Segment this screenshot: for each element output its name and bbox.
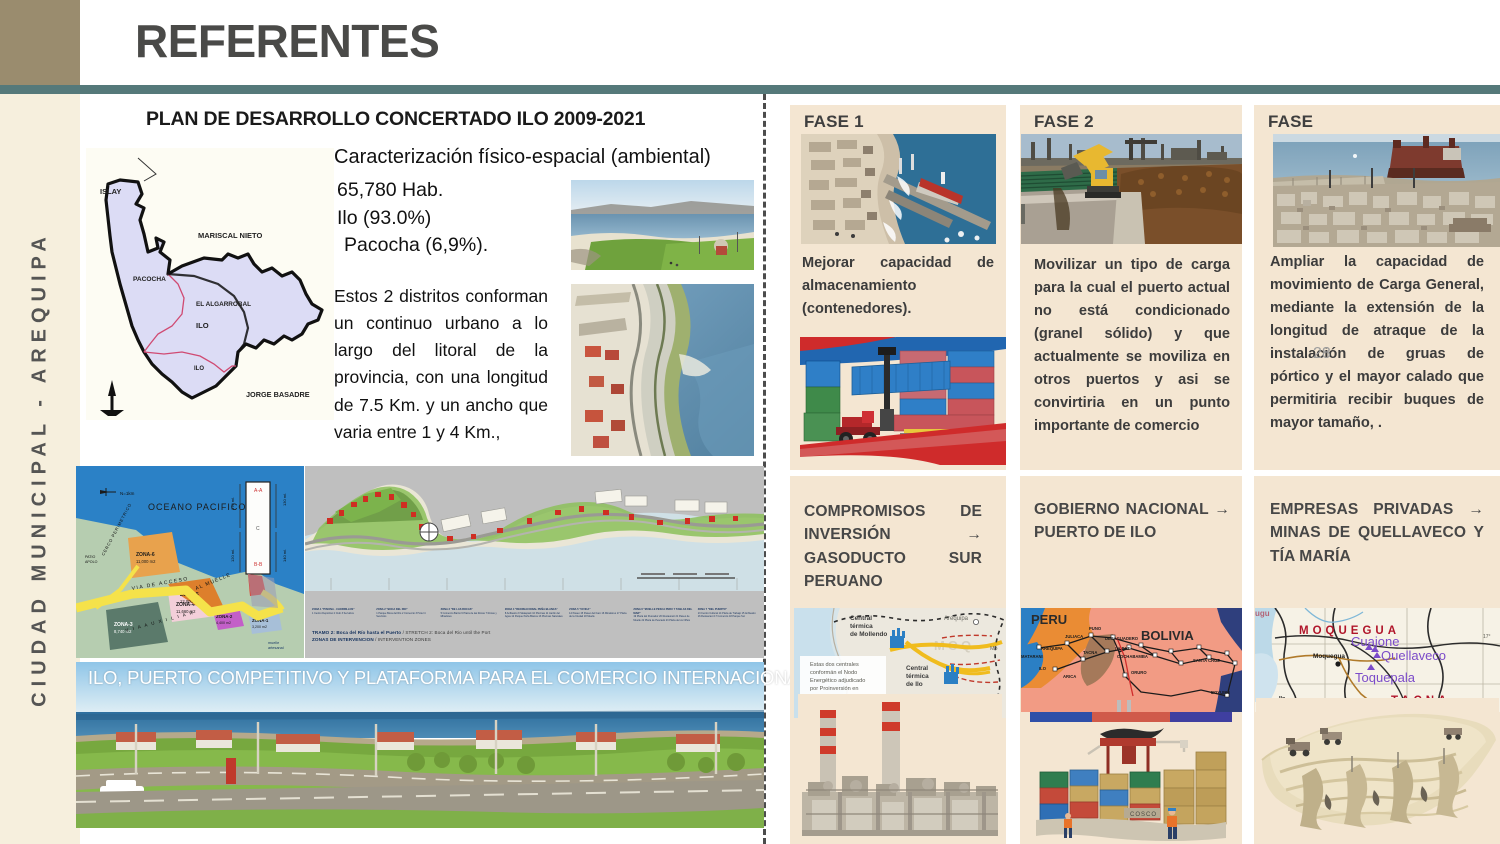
fase-2-paragraph: Movilizar un tipo de carga para la cual … <box>1034 254 1230 438</box>
svg-text:ugu: ugu <box>1255 609 1270 618</box>
moquegua-mines-map: MOQUEGUA TACNA Cuajone Quellaveco Toquep… <box>1255 608 1500 712</box>
legend-zone-7: ZONA 7 "DEL PUERTO"13 Centro Cultural 14… <box>698 608 757 622</box>
svg-text:130 ml.: 130 ml. <box>282 493 287 506</box>
svg-text:APOLO: APOLO <box>85 560 98 564</box>
label-moquegua: Mo <box>990 646 998 652</box>
stat-pacocha: Pacocha (6,9%). <box>337 232 488 260</box>
city-boyuibe: BOYUIBE <box>1211 690 1230 695</box>
svg-text:conformán el Nodo: conformán el Nodo <box>810 670 857 676</box>
plant-icon-ilo <box>944 664 959 684</box>
city-juliaca: JULIACA <box>1065 634 1083 639</box>
label-central-ilo: Central <box>906 665 928 672</box>
legend-zone-2: ZONA 2 "BOCA DEL RIO"1 Parque Boca del R… <box>376 608 435 622</box>
city-lapaz: LA PAZ <box>1115 646 1130 651</box>
svg-text:C: C <box>256 526 260 532</box>
legend-zone-5: ZONA 5 "CIVICA"14 Paseo 15 Paseo del Far… <box>569 608 628 622</box>
map-label-peru: PERU <box>1031 612 1067 627</box>
city-cochabamba: COCHABAMBA <box>1117 654 1148 659</box>
city-puno: PUNO <box>1089 626 1102 631</box>
slide-number: 28 <box>1313 345 1331 363</box>
svg-text:170 ml.: 170 ml. <box>230 497 235 510</box>
fase-2-card: FASE 2 <box>1020 105 1242 470</box>
fase-1-card: FASE 1 <box>790 105 1006 470</box>
sidebar: CIUDAD MUNICIPAL - AREQUIPA <box>0 94 80 844</box>
city-matarani: MATARANI <box>1021 654 1043 659</box>
fase-3-paragraph: Ampliar la capacidad de movimiento de Ca… <box>1270 251 1484 435</box>
map-label-jorge-basadre: JORGE BASADRE <box>246 390 310 399</box>
city-arequipa: AREQUIPA <box>1041 646 1063 651</box>
plant-icon-mollendo <box>890 628 905 648</box>
svg-text:artesanal: artesanal <box>268 646 284 650</box>
map-label-el-algarrobal: EL ALGARROBAL <box>196 301 251 308</box>
svg-text:Energético adjudicado: Energético adjudicado <box>810 678 865 684</box>
container-terminal-crane-photo: COSCO <box>1030 712 1232 844</box>
left-panel-banner: ILO, PUERTO COMPETITIVO Y PLATAFORMA PAR… <box>88 667 760 689</box>
fase-1-paragraph: Mejorar capacidad de almacenamiento (con… <box>802 252 994 321</box>
population-stats: 65,780 Hab. Ilo (93.0%) Pacocha (6,9%). <box>337 177 488 260</box>
malecon-coast-photo <box>571 180 754 270</box>
svg-text:4,400 m2: 4,400 m2 <box>216 621 231 625</box>
fase-2-heading: FASE 2 <box>1034 112 1094 132</box>
city-moquegua: Moquegua <box>1313 653 1345 660</box>
svg-text:térmica: térmica <box>850 623 873 630</box>
city-santacruz: SANTA CRUZ <box>1193 658 1220 663</box>
urban-map-caption: TRAMO 2: Boca del Río hasta el Puerto / … <box>312 630 490 644</box>
legend-zone-1: ZONA 1 "PISCINA - CHORRILLOS"1 Centro De… <box>312 608 371 622</box>
stat-ilo: Ilo (93.0%) <box>337 205 488 233</box>
svg-text:muelle: muelle <box>268 641 279 645</box>
svg-text:140 ml.: 140 ml. <box>282 549 287 562</box>
thermal-power-plant-photo <box>798 694 1002 844</box>
svg-text:ZONA-6: ZONA-6 <box>136 552 155 558</box>
svg-text:de Ilo: de Ilo <box>906 681 923 688</box>
svg-text:N=1km: N=1km <box>120 491 135 496</box>
left-panel-title: PLAN DE DESARROLLO CONCERTADO ILO 2009-2… <box>146 108 645 131</box>
gobierno-heading: GOBIERNO NACIONAL → PUERTO DE ILO <box>1034 498 1230 545</box>
aerial-coastline-photo <box>571 284 754 456</box>
map-label-ilo-upper: ILO <box>196 321 209 330</box>
svg-text:11,000 m2: 11,000 m2 <box>136 559 156 564</box>
open-pit-mine-photo <box>1256 698 1499 844</box>
svg-text:Estas dos centrales: Estas dos centrales <box>810 662 859 668</box>
fase-3-card: FASE <box>1254 105 1500 470</box>
city-arica: ARICA <box>1063 674 1076 679</box>
left-panel-paragraph: Estos 2 distritos conforman un continuo … <box>334 283 548 446</box>
label-central-mollendo: Central <box>850 615 872 622</box>
svg-text:COSCO: COSCO <box>1130 812 1157 818</box>
coastal-intervention-plan-map: ZONA 1 "PISCINA - CHORRILLOS"1 Centro De… <box>305 466 764 658</box>
mine-toquepala: Toquepala <box>1355 670 1416 685</box>
city-ilo: ILO <box>1039 666 1047 671</box>
svg-text:3,200 m2: 3,200 m2 <box>252 625 267 629</box>
sidebar-vertical-label: CIUDAD MUNICIPAL - AREQUIPA <box>29 231 52 707</box>
city-oruro: ORURO <box>1131 670 1147 675</box>
bulk-cargo-excavator-photo <box>1021 134 1242 244</box>
svg-text:por Proinversión en: por Proinversión en <box>810 686 859 692</box>
legend-zone-6: ZONA 6 "MUELLE PESCA PERU Y TABLAS DEL M… <box>633 608 692 622</box>
map-label-pacocha: PACOCHA <box>133 276 166 283</box>
svg-text:B-B: B-B <box>254 562 263 568</box>
empresas-privadas-card: EMPRESAS PRIVADAS → MINAS DE QUELLAVECO … <box>1254 476 1500 844</box>
map-label-islay: ISLAY <box>100 187 121 196</box>
svg-text:17°: 17° <box>1483 634 1491 640</box>
shipping-containers-photo <box>800 337 1006 465</box>
mine-quellaveco: Quellaveco <box>1381 648 1446 663</box>
left-panel-subtitle: Caracterización físico-espacial (ambient… <box>334 146 711 169</box>
stat-total: 65,780 Hab. <box>337 177 488 205</box>
map-label-ilo-lower: ILO <box>194 366 204 372</box>
fase-3-heading: FASE <box>1268 112 1313 132</box>
map-label-bolivia: BOLIVIA <box>1141 628 1194 643</box>
svg-text:de Mollendo: de Mollendo <box>850 631 887 638</box>
map-label-mariscal-nieto: MARISCAL NIETO <box>198 231 262 240</box>
header-divider-rule <box>0 85 1500 94</box>
gobierno-nacional-card: GOBIERNO NACIONAL → PUERTO DE ILO PERU B… <box>1020 476 1242 844</box>
page-title: REFERENTES <box>135 14 439 68</box>
compromisos-heading: COMPROMISOS DE INVERSIÓN → GASODUCTO SUR… <box>804 500 982 594</box>
aerial-port-photo <box>801 134 996 244</box>
urban-map-legend: ZONA 1 "PISCINA - CHORRILLOS"1 Centro De… <box>312 608 757 622</box>
header-accent-block <box>0 0 80 85</box>
svg-text:térmica: térmica <box>906 673 929 680</box>
port-zoning-map: OCEANO PACIFICO N=1km ZONA-6 11,000 m2 Z… <box>76 466 304 658</box>
port-city-ship-photo <box>1273 134 1500 247</box>
peru-bolivia-route-map: PERU BOLIVIA <box>1021 608 1242 712</box>
svg-text:120 ml.: 120 ml. <box>230 549 235 562</box>
fase-1-heading: FASE 1 <box>804 112 864 132</box>
label-arequipa: Arequipa <box>944 616 969 622</box>
svg-text:PATIO: PATIO <box>85 555 95 559</box>
city-tacna: TACNA <box>1083 650 1097 655</box>
province-map: ISLAY MARISCAL NIETO PACOCHA EL ALGARROB… <box>86 148 334 420</box>
legend-zone-4: ZONA 4 "RECREACIONAL PEÑA BLANCA"8 Anfit… <box>505 608 564 622</box>
svg-text:A-A: A-A <box>254 488 263 494</box>
compromisos-inversion-card: COMPROMISOS DE INVERSIÓN → GASODUCTO SUR… <box>790 476 1006 844</box>
legend-zone-3: ZONA 3 "DE LAS ROCAS"5 Comercio Barrio 6… <box>441 608 500 622</box>
empresas-heading: EMPRESAS PRIVADAS → MINAS DE QUELLAVECO … <box>1270 498 1484 568</box>
slide-root: REFERENTES CIUDAD MUNICIPAL - AREQUIPA P… <box>0 0 1500 844</box>
city-desaguadero: DESAGUADERO <box>1105 636 1139 641</box>
